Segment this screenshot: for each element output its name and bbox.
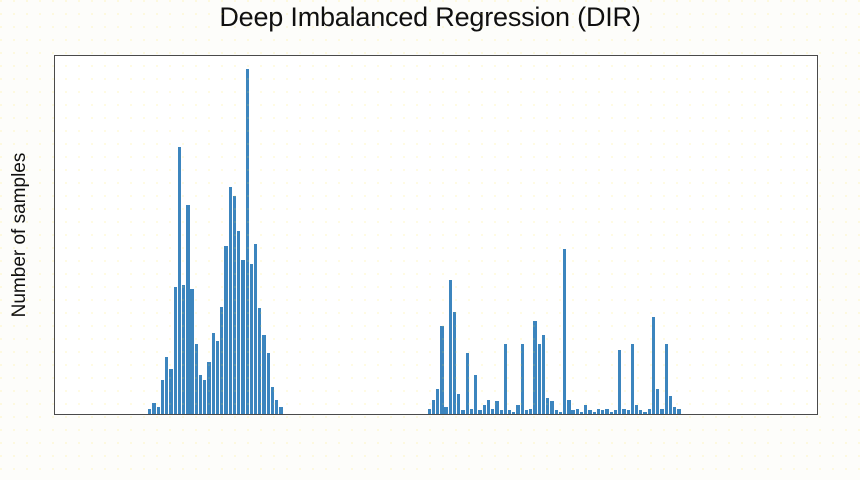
histogram-bar — [195, 344, 198, 414]
histogram-bar — [436, 389, 439, 414]
histogram-bar — [559, 412, 562, 414]
histogram-bar — [478, 410, 481, 414]
histogram-bar — [584, 405, 587, 414]
histogram-bar — [618, 350, 621, 414]
y-axis-label-container: Number of samples — [0, 55, 40, 415]
histogram-bar — [677, 409, 680, 414]
histogram-bar — [207, 362, 210, 414]
histogram-bar — [203, 380, 206, 414]
histogram-bar — [271, 387, 274, 414]
histogram-bar — [241, 260, 244, 414]
histogram-bar — [428, 409, 431, 414]
histogram-bar — [174, 287, 177, 414]
histogram-bar — [233, 196, 236, 414]
histogram-bar — [580, 412, 583, 414]
histogram-bar — [212, 333, 215, 414]
histogram-bar — [157, 407, 160, 414]
histogram-bar — [444, 407, 447, 414]
histogram-bar — [508, 410, 511, 414]
histogram-bar — [250, 264, 253, 414]
plot-area — [54, 55, 818, 415]
histogram-bar — [593, 412, 596, 414]
histogram-bar — [622, 409, 625, 414]
histogram-bar — [237, 231, 240, 414]
histogram-bar — [279, 407, 282, 414]
histogram-bar — [627, 410, 630, 414]
histogram-bar — [550, 401, 553, 414]
histogram-bar — [529, 409, 532, 414]
histogram-bar — [483, 405, 486, 414]
histogram-bar — [576, 409, 579, 414]
histogram-bar — [610, 412, 613, 414]
histogram-bar — [538, 344, 541, 414]
histogram-bar — [605, 409, 608, 414]
histogram-bar — [148, 409, 151, 414]
histogram-bar — [567, 400, 570, 414]
histogram-bar — [571, 410, 574, 414]
histogram-bar — [199, 375, 202, 414]
histogram-bar — [504, 344, 507, 414]
histogram-bar — [500, 410, 503, 414]
histogram-bar — [546, 398, 549, 414]
histogram-bar — [516, 405, 519, 414]
histogram-bar — [267, 353, 270, 414]
histogram-bar — [597, 409, 600, 414]
histogram-bar — [275, 400, 278, 414]
histogram-bar — [542, 335, 545, 414]
histogram-bar — [169, 369, 172, 414]
histogram-bar — [656, 389, 659, 414]
histogram-bar — [673, 407, 676, 414]
histogram-bar — [660, 409, 663, 414]
histogram-bar — [461, 410, 464, 414]
histogram-bar — [229, 187, 232, 414]
histogram-bar — [512, 412, 515, 414]
histogram-bar — [182, 285, 185, 414]
histogram-bar — [525, 410, 528, 414]
histogram-bar — [614, 410, 617, 414]
chart-figure: Deep Imbalanced Regression (DIR) Number … — [0, 0, 860, 480]
histogram-bar — [453, 312, 456, 414]
histogram-bar — [643, 412, 646, 414]
histogram-bar — [491, 409, 494, 414]
histogram-bar — [495, 401, 498, 414]
histogram-bar — [190, 289, 193, 414]
histogram-bar — [665, 344, 668, 414]
histogram-bar — [521, 344, 524, 414]
histogram-bar — [533, 321, 536, 414]
histogram-bar — [588, 410, 591, 414]
histogram-bar — [563, 249, 566, 414]
histogram-bar — [262, 335, 265, 414]
histogram-bar — [254, 244, 257, 414]
histogram-bar — [152, 403, 155, 414]
chart-title: Deep Imbalanced Regression (DIR) — [0, 2, 860, 33]
histogram-bar — [457, 394, 460, 414]
histogram-bar — [216, 341, 219, 414]
histogram-bar — [474, 375, 477, 414]
y-axis-label: Number of samples — [9, 153, 31, 318]
histogram-bar — [487, 400, 490, 414]
bars-layer — [55, 56, 817, 414]
histogram-bar — [161, 380, 164, 414]
histogram-bar — [224, 246, 227, 414]
histogram-bar — [165, 357, 168, 414]
histogram-bar — [631, 344, 634, 414]
histogram-bar — [449, 280, 452, 414]
histogram-bar — [669, 396, 672, 414]
histogram-bar — [635, 405, 638, 414]
histogram-bar — [555, 410, 558, 414]
histogram-bar — [601, 410, 604, 414]
histogram-bar — [466, 353, 469, 414]
histogram-bar — [220, 307, 223, 414]
histogram-bar — [246, 69, 249, 414]
histogram-bar — [258, 308, 261, 414]
histogram-bar — [639, 410, 642, 414]
histogram-bar — [648, 409, 651, 414]
histogram-bar — [178, 147, 181, 414]
histogram-bar — [470, 409, 473, 414]
histogram-bar — [432, 400, 435, 414]
histogram-bar — [186, 205, 189, 414]
histogram-bar — [652, 317, 655, 414]
histogram-bar — [440, 326, 443, 414]
